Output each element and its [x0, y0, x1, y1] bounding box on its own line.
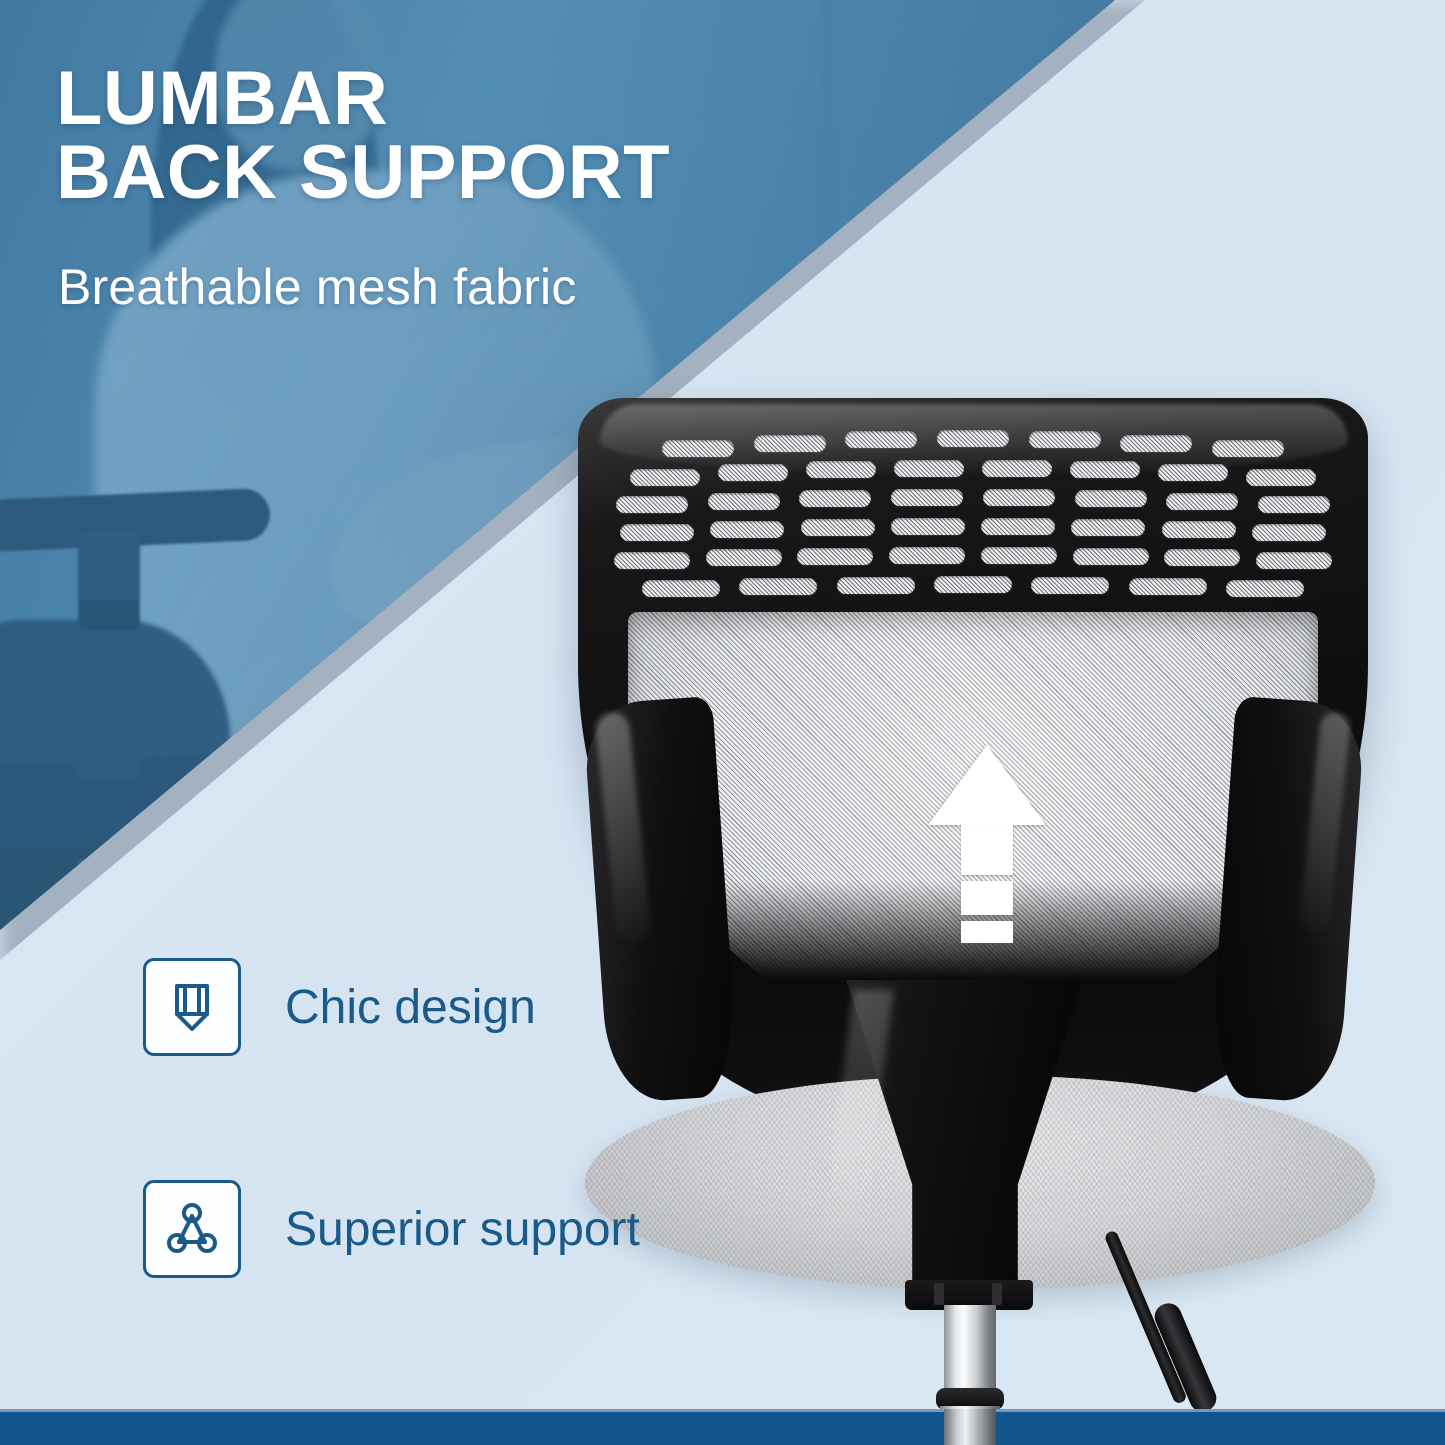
- vent-slot: [662, 440, 734, 457]
- feature-label: Chic design: [285, 980, 536, 1035]
- vent-slot: [937, 430, 1009, 447]
- arrow-head: [928, 745, 1046, 825]
- network-nodes-icon: [143, 1180, 241, 1278]
- vent-slot: [1129, 578, 1207, 595]
- vent-slot: [620, 524, 694, 541]
- vent-slot: [1073, 548, 1149, 565]
- vent-slot: [845, 431, 917, 448]
- vent-slot: [889, 547, 965, 564]
- vent-slot: [1162, 521, 1236, 538]
- feature-item-superior-support[interactable]: Superior support: [143, 1180, 640, 1278]
- vent-slot: [891, 489, 963, 506]
- arrow-shaft-segment-3: [961, 921, 1013, 943]
- vent-slot: [754, 435, 826, 452]
- vent-slot: [1071, 519, 1145, 536]
- vent-slot: [1158, 464, 1228, 481]
- vent-slot: [642, 580, 720, 597]
- ventilation-slot-grille: [612, 432, 1334, 622]
- vent-slot: [894, 460, 964, 477]
- vent-slot: [1120, 435, 1192, 452]
- cylinder-through-footer: [944, 1409, 996, 1445]
- vent-slot: [1031, 577, 1109, 594]
- vent-slot: [630, 469, 700, 486]
- vent-slot: [1256, 552, 1332, 569]
- vent-slot: [801, 519, 875, 536]
- headline-line-2: BACK SUPPORT: [56, 136, 670, 210]
- vent-slot: [1164, 549, 1240, 566]
- vent-slot: [1246, 469, 1316, 486]
- vent-slot: [837, 577, 915, 594]
- vent-slot: [1029, 431, 1101, 448]
- vent-slot: [710, 521, 784, 538]
- vent-slot: [614, 552, 690, 569]
- vent-slot: [708, 493, 780, 510]
- vent-slot: [1070, 461, 1140, 478]
- vent-slot: [806, 461, 876, 478]
- vent-slot: [981, 518, 1055, 535]
- vent-slot: [616, 496, 688, 513]
- vent-slot: [1075, 490, 1147, 507]
- vent-slot: [891, 518, 965, 535]
- upward-arrow-indicator: [928, 745, 1046, 933]
- pencil-icon: [143, 958, 241, 1056]
- vent-slot: [1166, 493, 1238, 510]
- vent-slot: [799, 490, 871, 507]
- vent-slot: [1258, 496, 1330, 513]
- vent-slot: [706, 549, 782, 566]
- headline-line-1: LUMBAR: [56, 62, 670, 136]
- vent-slot: [983, 489, 1055, 506]
- support-foot-notch-left: [934, 1283, 944, 1305]
- footer-brand-band: [0, 1412, 1445, 1445]
- product-feature-banner: LUMBAR BACK SUPPORT Breathable mesh fabr…: [0, 0, 1445, 1445]
- vent-slot: [1226, 580, 1304, 597]
- vent-slot: [1212, 440, 1284, 457]
- feature-item-chic-design[interactable]: Chic design: [143, 958, 640, 1056]
- vent-slot: [797, 548, 873, 565]
- arrow-shaft-segment-2: [961, 881, 1013, 915]
- support-foot-notch-right: [992, 1283, 1002, 1305]
- vent-slot: [1252, 524, 1326, 541]
- feature-label: Superior support: [285, 1202, 640, 1257]
- page-title: LUMBAR BACK SUPPORT: [56, 62, 670, 211]
- subtitle: Breathable mesh fabric: [58, 258, 577, 316]
- vent-slot: [739, 578, 817, 595]
- feature-list: Chic design Superior support: [143, 958, 640, 1402]
- arrow-shaft-segment-1: [961, 825, 1013, 875]
- vent-slot: [981, 547, 1057, 564]
- vent-slot: [934, 576, 1012, 593]
- vent-slot: [982, 460, 1052, 477]
- vent-slot: [718, 464, 788, 481]
